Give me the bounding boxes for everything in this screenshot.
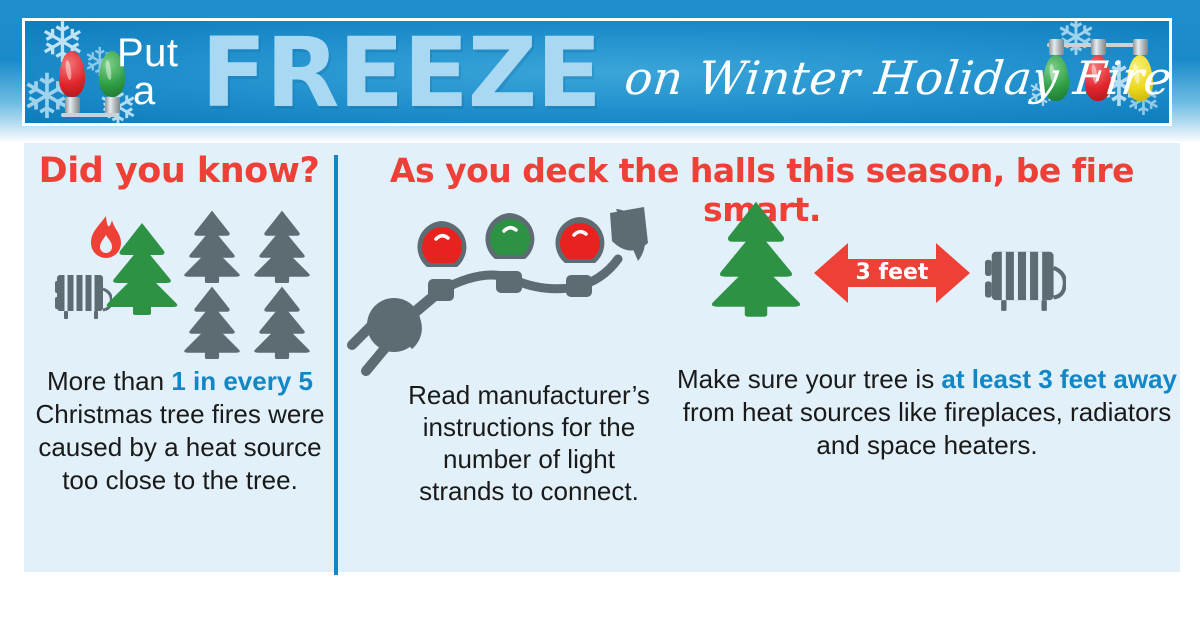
- content-panel: Did you know?: [24, 143, 1180, 572]
- middle-body-text: Read manufacturer’s instructions for the…: [404, 379, 654, 507]
- left-body-text: More than 1 in every 5 Christmas tree fi…: [30, 365, 330, 497]
- left-body-highlight: 1 in every 5: [171, 366, 313, 396]
- light-strand-icon: [344, 195, 674, 385]
- christmas-tree-gray-icon: [180, 209, 244, 283]
- header-title: Put a FREEZE on Winter Holiday Fires: [25, 21, 1172, 126]
- three-feet-arrow: 3 feet: [814, 241, 970, 310]
- right-column: 3 feet: [674, 195, 1180, 575]
- left-illustration: [24, 205, 334, 355]
- strand-bulb-red-icon: [417, 221, 466, 267]
- header-banner: ❄ ❄ ❄ ❄ ❄ ❄ ❄ ❄: [0, 0, 1200, 143]
- plug-icon: [352, 298, 422, 371]
- header-script-line: on Winter Holiday Fires: [622, 51, 1172, 105]
- left-heading: Did you know?: [24, 151, 334, 191]
- header-word-a: a: [133, 69, 155, 114]
- strand-bulb-red-icon: [555, 217, 604, 263]
- christmas-tree-gray-icon: [250, 285, 314, 359]
- left-body-part2: Christmas tree fires were caused by a he…: [36, 399, 325, 495]
- radiator-icon: [982, 241, 1066, 319]
- arrow-label: 3 feet: [814, 241, 970, 305]
- header-frame: ❄ ❄ ❄ ❄ ❄ ❄ ❄ ❄: [22, 18, 1172, 126]
- right-illustration: 3 feet: [674, 195, 1180, 335]
- christmas-tree-green-icon: [102, 221, 182, 315]
- header-word-freeze: FREEZE: [201, 19, 601, 126]
- middle-column: Read manufacturer’s instructions for the…: [344, 195, 674, 575]
- left-column: Did you know?: [24, 143, 334, 572]
- infographic-poster: ❄ ❄ ❄ ❄ ❄ ❄ ❄ ❄: [0, 0, 1200, 600]
- strand-bulb-green-icon: [485, 213, 534, 259]
- right-body-part2: from heat sources like fireplaces, radia…: [683, 397, 1171, 460]
- right-body-part1: Make sure your tree is: [677, 364, 941, 394]
- column-divider: [334, 155, 338, 575]
- right-body-highlight: at least 3 feet away: [941, 364, 1177, 394]
- christmas-tree-gray-icon: [180, 285, 244, 359]
- christmas-tree-gray-icon: [250, 209, 314, 283]
- left-body-part1: More than: [47, 366, 171, 396]
- christmas-tree-icon: [706, 197, 806, 324]
- right-body-text: Make sure your tree is at least 3 feet a…: [674, 363, 1180, 462]
